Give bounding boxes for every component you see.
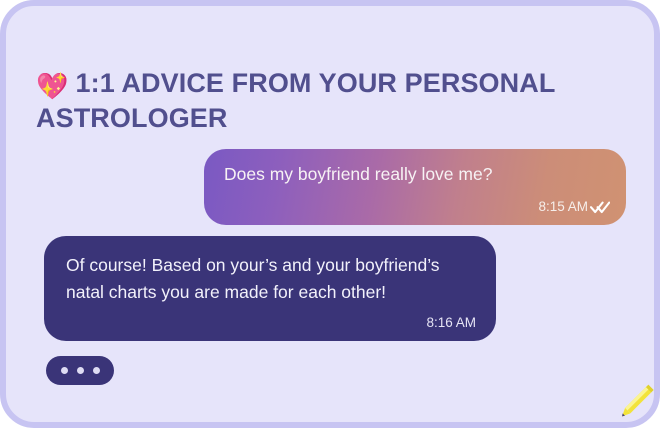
typing-dot (61, 367, 68, 374)
typing-indicator (46, 356, 114, 385)
double-check-icon (590, 201, 610, 215)
message-text: Of course! Based on your’s and your boyf… (66, 252, 474, 305)
message-meta: 8:16 AM (426, 314, 476, 332)
message-text: Does my boyfriend really love me? (224, 163, 606, 186)
page-title-text: 1:1 ADVICE FROM YOUR PERSONAL ASTROLOGER (36, 68, 555, 133)
astrologer-chat-card: 💖1:1 ADVICE FROM YOUR PERSONAL ASTROLOGE… (0, 0, 660, 428)
sparkling-heart-icon: 💖 (36, 72, 68, 102)
typing-dot (77, 367, 84, 374)
chat-message-incoming[interactable]: Of course! Based on your’s and your boyf… (44, 236, 496, 341)
message-timestamp: 8:16 AM (426, 315, 476, 330)
chat-message-outgoing[interactable]: Does my boyfriend really love me? 8:15 A… (204, 149, 626, 225)
message-timestamp: 8:15 AM (538, 199, 588, 214)
message-meta: 8:15 AM (538, 199, 610, 214)
typing-dot (93, 367, 100, 374)
page-title: 💖1:1 ADVICE FROM YOUR PERSONAL ASTROLOGE… (36, 66, 611, 135)
chat-thread: Does my boyfriend really love me? 8:15 A… (6, 136, 654, 422)
